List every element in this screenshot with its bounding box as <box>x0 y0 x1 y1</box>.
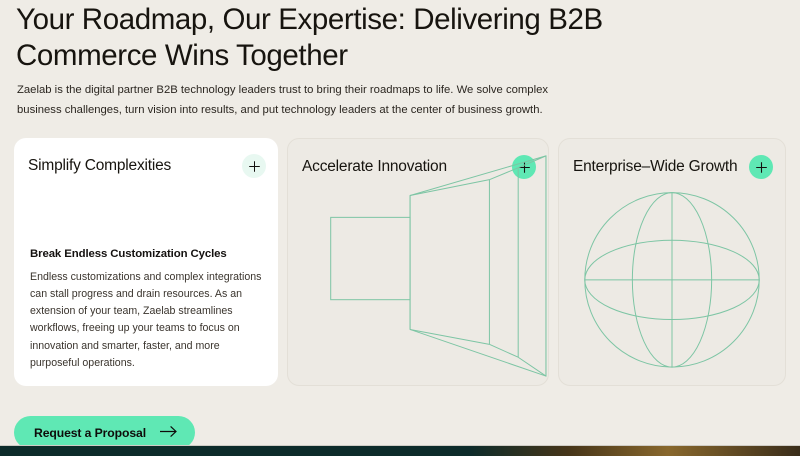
feature-card-enterprise-wide-growth[interactable]: Enterprise–Wide Growth <box>558 138 786 386</box>
card-description: Endless customizations and complex integ… <box>30 269 264 372</box>
card-header: Simplify Complexities <box>28 154 266 178</box>
intro-paragraph: Zaelab is the digital partner B2B techno… <box>17 80 557 120</box>
card-title: Enterprise–Wide Growth <box>573 158 737 176</box>
next-section-strip <box>0 446 800 456</box>
plus-icon[interactable] <box>512 155 536 179</box>
plus-icon[interactable] <box>242 154 266 178</box>
page-title: Your Roadmap, Our Expertise: Delivering … <box>16 2 636 74</box>
card-title: Accelerate Innovation <box>302 158 447 176</box>
feature-card-accelerate-innovation[interactable]: Accelerate Innovation <box>287 138 549 386</box>
feature-card-simplify-complexities[interactable]: Simplify Complexities Break Endless Cust… <box>14 138 278 386</box>
card-body: Break Endless Customization Cycles Endle… <box>30 248 264 372</box>
hero-section: Your Roadmap, Our Expertise: Delivering … <box>0 0 800 456</box>
arrow-right-icon <box>159 425 178 441</box>
next-section-image-edge <box>470 446 800 456</box>
card-header: Accelerate Innovation <box>302 155 536 179</box>
cta-label: Request a Proposal <box>34 426 146 440</box>
card-subheading: Break Endless Customization Cycles <box>30 248 264 260</box>
plus-icon[interactable] <box>749 155 773 179</box>
feature-card-list: Simplify Complexities Break Endless Cust… <box>14 138 786 386</box>
card-header: Enterprise–Wide Growth <box>573 155 773 179</box>
card-title: Simplify Complexities <box>28 157 171 175</box>
